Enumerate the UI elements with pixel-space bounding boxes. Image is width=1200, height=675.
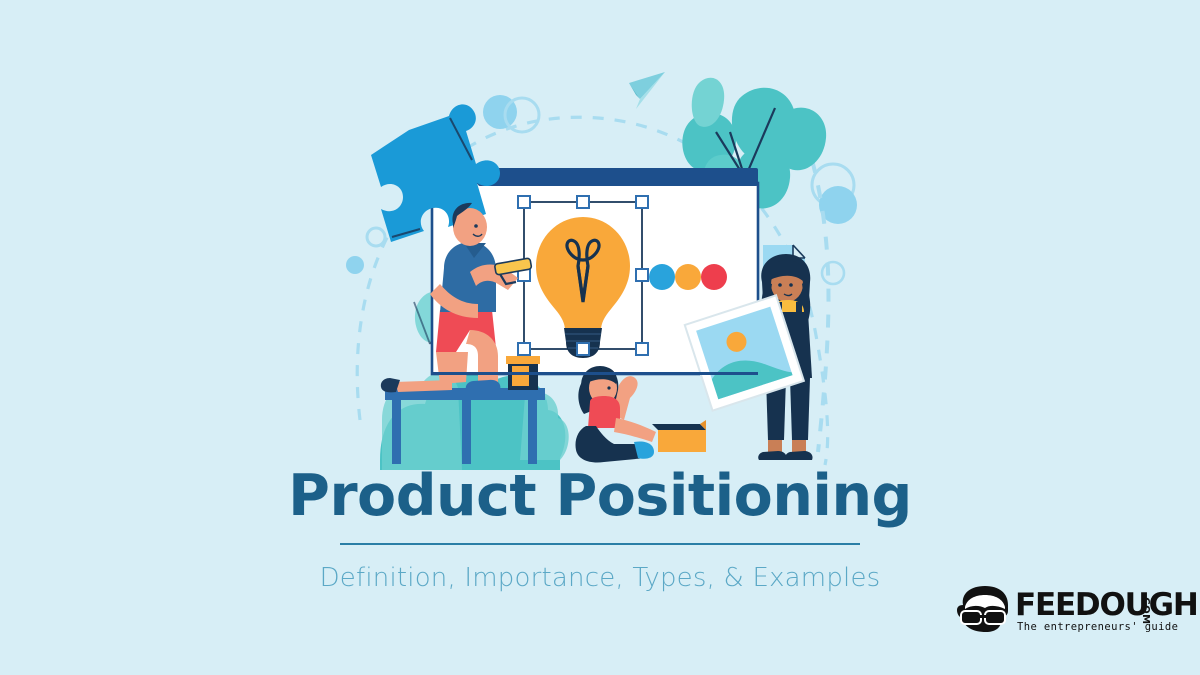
handle-bottom-right[interactable] (636, 343, 648, 355)
face-with-glasses-icon (955, 585, 1013, 633)
circle-filled-c (346, 256, 364, 274)
logo-wordmark: FEEDOUGH (1015, 587, 1198, 623)
orange-open-box-prop (652, 420, 706, 452)
woman2-top (588, 396, 620, 428)
man-knee (436, 352, 468, 384)
woman3-strap-right (796, 302, 802, 316)
woman3-shoe-left (758, 451, 786, 460)
woman2-eye (607, 386, 610, 389)
title-block: Product Positioning Definition, Importan… (0, 468, 1200, 593)
table-leg-left (392, 400, 401, 464)
handle-bottom-left[interactable] (518, 343, 530, 355)
red-dot-swatch[interactable] (701, 264, 727, 290)
handle-top-right[interactable] (636, 196, 648, 208)
window-bottom-edge (432, 372, 758, 375)
window-titlebar (478, 168, 758, 186)
logo-tagline: The entrepreneurs' guide (1017, 621, 1178, 633)
feedough-logo[interactable]: FEEDOUGH .COM The entrepreneurs' guide (955, 585, 1180, 641)
handle-top-left[interactable] (518, 196, 530, 208)
woman3-ankle-left (768, 440, 782, 452)
page-title: Product Positioning (0, 468, 1200, 525)
woman3-eye-right (789, 283, 793, 287)
woman3-ankle-right (792, 440, 806, 452)
logo-dotcom: .COM (1140, 593, 1151, 625)
blue-dot-swatch[interactable] (649, 264, 675, 290)
title-divider (340, 543, 860, 545)
woman3-leg-right (790, 378, 810, 440)
man-eye (474, 224, 478, 228)
handle-middle-right[interactable] (636, 269, 648, 281)
table-leg-mid (462, 400, 471, 464)
handle-bottom-center[interactable] (577, 343, 589, 355)
color-swatch-dots[interactable] (649, 264, 727, 290)
woman3-shoe-right (785, 451, 812, 460)
poster-canvas: Product Positioning Definition, Importan… (0, 0, 1200, 675)
handle-top-center[interactable] (577, 196, 589, 208)
yellow-dot-swatch[interactable] (675, 264, 701, 290)
woman3-eye-left (778, 283, 782, 287)
table-leg-right (528, 400, 537, 464)
